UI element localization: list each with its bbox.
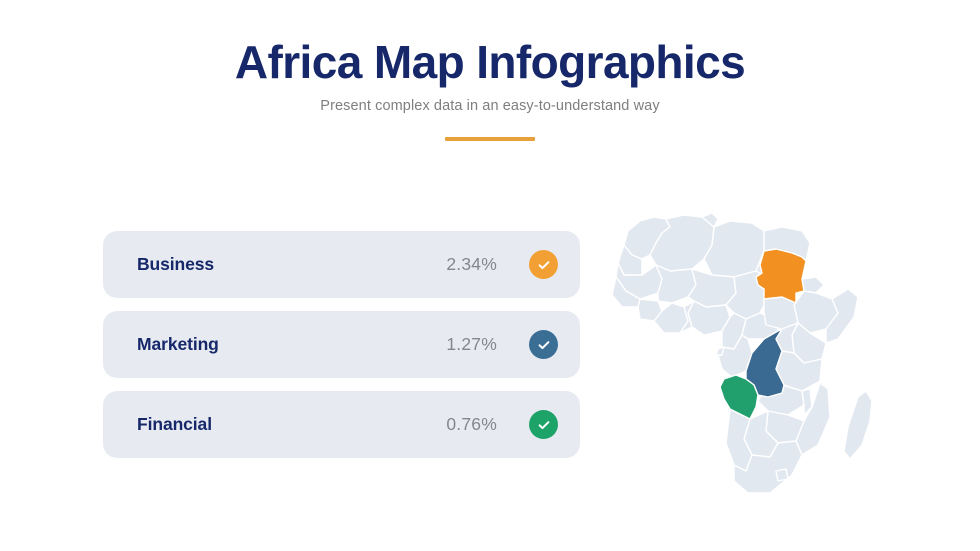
list-item-label: Marketing	[137, 334, 219, 355]
map-region-sudan	[756, 249, 806, 303]
list-item-value: 1.27%	[446, 334, 497, 355]
list-item-value: 2.34%	[446, 254, 497, 275]
check-circle-icon[interactable]	[529, 330, 558, 359]
map-region-equatorial-guinea	[716, 347, 724, 355]
list-item-label: Business	[137, 254, 214, 275]
page-title: Africa Map Infographics	[0, 0, 980, 86]
africa-map	[606, 193, 906, 508]
check-circle-icon[interactable]	[529, 250, 558, 279]
accent-divider	[445, 137, 535, 141]
list-item-label: Financial	[137, 414, 212, 435]
list-item[interactable]: Marketing 1.27%	[103, 311, 580, 378]
list-item-value: 0.76%	[446, 414, 497, 435]
stats-list: Business 2.34% Marketing 1.27% Financial…	[103, 231, 580, 458]
check-circle-icon[interactable]	[529, 410, 558, 439]
map-region-madagascar	[844, 391, 872, 459]
list-item[interactable]: Business 2.34%	[103, 231, 580, 298]
map-region-lesotho	[776, 469, 788, 481]
page-subtitle: Present complex data in an easy-to-under…	[0, 86, 980, 114]
list-item[interactable]: Financial 0.76%	[103, 391, 580, 458]
page-header: Africa Map Infographics Present complex …	[0, 0, 980, 146]
title-divider-wrap	[0, 114, 980, 146]
